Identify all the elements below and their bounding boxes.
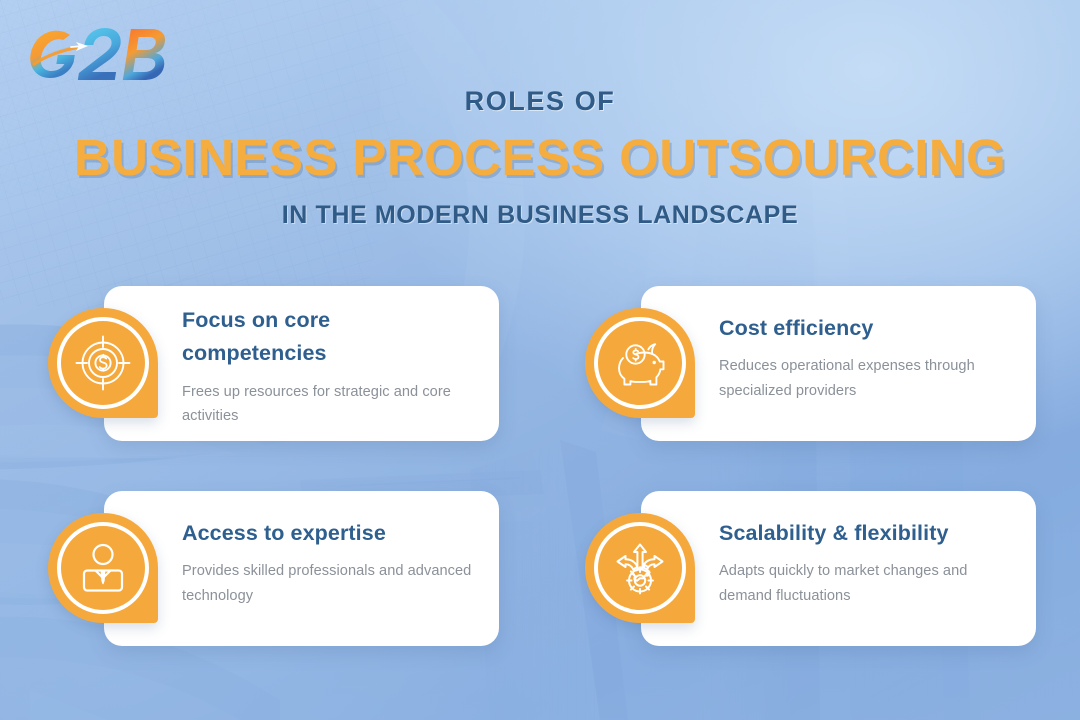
card-icon-badge bbox=[585, 308, 695, 418]
role-card-cost-efficiency[interactable]: Cost efficiency Reduces operational expe… bbox=[641, 286, 1036, 441]
card-title: Scalability & flexibility bbox=[719, 517, 1010, 550]
card-description: Provides skilled professionals and advan… bbox=[182, 559, 473, 607]
header-kicker: ROLES OF bbox=[0, 86, 1080, 117]
header-title: BUSINESS PROCESS OUTSOURCING bbox=[0, 128, 1080, 187]
card-title: Access to expertise bbox=[182, 517, 473, 550]
card-row-2: Access to expertise Provides skilled pro… bbox=[0, 491, 1080, 696]
role-card-access-to-expertise[interactable]: Access to expertise Provides skilled pro… bbox=[104, 491, 499, 646]
g2b-logo-icon bbox=[26, 22, 186, 88]
card-description: Adapts quickly to market changes and dem… bbox=[719, 559, 1010, 607]
card-icon-badge bbox=[48, 308, 158, 418]
card-title: Cost efficiency bbox=[719, 312, 1010, 345]
roles-card-grid: Focus on core competencies Frees up reso… bbox=[0, 286, 1080, 696]
card-description: Frees up resources for strategic and cor… bbox=[182, 380, 473, 428]
header-subtitle: IN THE MODERN BUSINESS LANDSCAPE bbox=[0, 201, 1080, 230]
card-title: Focus on core competencies bbox=[182, 304, 473, 371]
target-dollar-icon bbox=[73, 333, 133, 393]
card-icon-badge bbox=[48, 513, 158, 623]
infographic-canvas: ROLES OF BUSINESS PROCESS OUTSOURCING IN… bbox=[0, 0, 1080, 720]
card-row-1: Focus on core competencies Frees up reso… bbox=[0, 286, 1080, 491]
role-card-focus-on-core-competencies[interactable]: Focus on core competencies Frees up reso… bbox=[104, 286, 499, 441]
gear-arrows-icon bbox=[612, 539, 668, 597]
brand-logo[interactable] bbox=[26, 22, 186, 88]
card-description: Reduces operational expenses through spe… bbox=[719, 354, 1010, 402]
business-person-icon bbox=[76, 540, 130, 596]
piggy-bank-icon bbox=[611, 335, 669, 391]
card-icon-badge bbox=[585, 513, 695, 623]
header-block: ROLES OF BUSINESS PROCESS OUTSOURCING IN… bbox=[0, 86, 1080, 230]
role-card-scalability-and-flexibility[interactable]: Scalability & flexibility Adapts quickly… bbox=[641, 491, 1036, 646]
